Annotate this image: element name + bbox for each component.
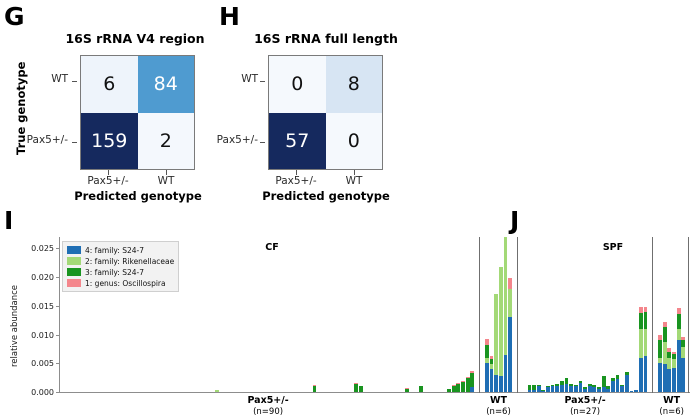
chart-legend: 4: family: S24-72: family: Rikenellaceae… bbox=[62, 241, 179, 292]
chart-x-axis-line bbox=[59, 392, 690, 393]
panel-h-ytick-mark-0 bbox=[260, 81, 265, 82]
bar-segment-taxon4 bbox=[555, 386, 559, 392]
panel-h-xtick-0: Pax5+/- bbox=[266, 175, 326, 187]
bar-i-Pax5-84[interactable] bbox=[452, 385, 456, 392]
panel-g-cell-pax5-pax5[interactable]: 159 bbox=[81, 113, 138, 170]
bar-segment-taxon2 bbox=[677, 329, 681, 340]
legend-item-taxon4: 4: family: S24-7 bbox=[67, 245, 174, 255]
legend-item-taxon2: 2: family: Rikenellaceae bbox=[67, 256, 174, 266]
bar-segment-taxon4 bbox=[574, 386, 578, 392]
bar-segment-taxon4 bbox=[663, 364, 667, 392]
bar-segment-taxon4 bbox=[611, 381, 615, 392]
panel-h-cell-pax5-pax5[interactable]: 57 bbox=[269, 113, 326, 170]
group-separator-3 bbox=[652, 237, 653, 393]
panel-g-xtick-1: WT bbox=[141, 175, 191, 187]
bar-segment-taxon2 bbox=[672, 359, 676, 368]
bar-segment-taxon4 bbox=[490, 369, 494, 392]
bar-segment-taxon4 bbox=[504, 355, 508, 392]
panel-g-ytick-1: Pax5+/- bbox=[12, 134, 68, 146]
bar-j-Pax5-3[interactable] bbox=[537, 385, 541, 392]
legend-swatch-taxon4 bbox=[67, 246, 81, 254]
bar-segment-taxon4 bbox=[560, 385, 564, 392]
bar-segment-taxon4 bbox=[620, 386, 624, 392]
bar-segment-taxon4 bbox=[541, 391, 545, 392]
y-tick-label-3: 0.015 bbox=[20, 302, 54, 311]
bar-j-Pax5-16[interactable] bbox=[597, 387, 601, 392]
bar-j-Pax5-11[interactable] bbox=[574, 385, 578, 392]
bar-j-WT-3[interactable] bbox=[672, 352, 676, 392]
panel-g-matrix: 6 84 159 2 bbox=[80, 55, 195, 170]
bar-segment-taxon4 bbox=[644, 356, 648, 392]
group-label-i-WT: WT bbox=[454, 395, 544, 406]
bar-segment-taxon4 bbox=[606, 389, 610, 392]
bar-segment-taxon3 bbox=[470, 373, 474, 388]
panel-g-xlabel: Predicted genotype bbox=[73, 189, 203, 203]
panel-g-xtick-0: Pax5+/- bbox=[78, 175, 138, 187]
bar-i-WT-0[interactable] bbox=[485, 339, 489, 392]
bar-j-WT-2[interactable] bbox=[667, 348, 671, 392]
bar-j-Pax5-22[interactable] bbox=[625, 372, 629, 392]
y-tick-label-4: 0.020 bbox=[20, 273, 54, 282]
bar-segment-taxon3 bbox=[313, 386, 317, 392]
bar-i-Pax5-74[interactable] bbox=[405, 388, 409, 392]
bar-j-Pax5-13[interactable] bbox=[583, 387, 587, 392]
bar-j-Pax5-1[interactable] bbox=[528, 385, 532, 392]
group-label-j-WT: WT bbox=[627, 395, 694, 406]
bar-i-Pax5-83[interactable] bbox=[447, 389, 451, 392]
bar-segment-taxon4 bbox=[499, 376, 503, 392]
bar-i-WT-3[interactable] bbox=[499, 267, 503, 392]
bar-i-Pax5-64[interactable] bbox=[359, 386, 363, 392]
abundance-chart: relative abundance 0.0000.0050.0100.0150… bbox=[0, 215, 694, 413]
panel-g-cell-wt-pax5[interactable]: 6 bbox=[81, 56, 138, 113]
bar-segment-taxon4 bbox=[677, 340, 681, 392]
bar-segment-taxon4 bbox=[537, 386, 541, 392]
bar-segment-taxon4 bbox=[532, 390, 536, 392]
bar-j-Pax5-6[interactable] bbox=[551, 385, 555, 392]
bar-segment-taxon3 bbox=[644, 312, 648, 329]
bar-j-Pax5-23[interactable] bbox=[630, 391, 634, 392]
bar-i-WT-1[interactable] bbox=[490, 356, 494, 392]
legend-swatch-taxon1 bbox=[67, 279, 81, 287]
group-separator-end bbox=[688, 237, 689, 393]
bar-j-Pax5-9[interactable] bbox=[565, 378, 569, 392]
bar-j-Pax5-7[interactable] bbox=[555, 384, 559, 392]
group-separator-1 bbox=[479, 237, 480, 393]
panel-h-cell-wt-pax5[interactable]: 0 bbox=[269, 56, 326, 113]
chart-y-axis-label: relative abundance bbox=[10, 285, 20, 367]
bar-segment-taxon4 bbox=[546, 387, 550, 392]
bar-j-Pax5-21[interactable] bbox=[620, 385, 624, 392]
bar-segment-taxon4 bbox=[583, 389, 587, 392]
bar-segment-taxon4 bbox=[588, 386, 592, 392]
bar-j-Pax5-26[interactable] bbox=[644, 307, 648, 392]
bar-segment-taxon4 bbox=[485, 363, 489, 392]
group-count-j-WT: (n=6) bbox=[627, 407, 694, 417]
bar-i-Pax5-87[interactable] bbox=[466, 377, 470, 392]
y-tick-label-2: 0.010 bbox=[20, 331, 54, 340]
panel-letter-g: G bbox=[4, 4, 25, 29]
panel-header-j: SPF bbox=[583, 242, 643, 253]
bar-segment-taxon4 bbox=[667, 369, 671, 392]
bar-segment-taxon4 bbox=[592, 387, 596, 392]
bar-segment-taxon4 bbox=[597, 389, 601, 392]
bar-segment-taxon4 bbox=[508, 317, 512, 392]
bar-segment-taxon4 bbox=[528, 390, 532, 392]
bar-j-Pax5-20[interactable] bbox=[616, 375, 620, 392]
bar-segment-taxon3 bbox=[485, 345, 489, 358]
bar-segment-taxon2 bbox=[499, 267, 503, 376]
bar-segment-taxon3 bbox=[677, 314, 681, 329]
panel-h-cell-wt-wt[interactable]: 8 bbox=[326, 56, 383, 113]
legend-item-taxon1: 1: genus: Oscillospira bbox=[67, 278, 174, 288]
panel-g-cell-wt-wt[interactable]: 84 bbox=[138, 56, 195, 113]
panel-h-ytick-0: WT bbox=[212, 73, 258, 85]
bar-segment-taxon1 bbox=[508, 278, 512, 288]
y-tick-label-0: 0.000 bbox=[20, 388, 54, 397]
panel-g-ytick-0: WT bbox=[22, 73, 68, 85]
bar-segment-taxon3 bbox=[681, 340, 685, 347]
legend-label-taxon2: 2: family: Rikenellaceae bbox=[85, 257, 174, 266]
y-tick-label-1: 0.005 bbox=[20, 359, 54, 368]
legend-swatch-taxon2 bbox=[67, 257, 81, 265]
bar-segment-taxon3 bbox=[456, 384, 460, 392]
bar-j-Pax5-5[interactable] bbox=[546, 386, 550, 392]
group-label-j-Pax5: Pax5+/- bbox=[540, 395, 630, 406]
bar-j-Pax5-4[interactable] bbox=[541, 390, 545, 392]
bar-j-Pax5-10[interactable] bbox=[569, 384, 573, 392]
bar-segment-taxon3 bbox=[359, 386, 363, 392]
bar-segment-taxon3 bbox=[447, 389, 451, 392]
bar-j-Pax5-25[interactable] bbox=[639, 307, 643, 392]
bar-segment-taxon4 bbox=[625, 375, 629, 392]
bar-segment-taxon4 bbox=[681, 358, 685, 392]
bar-segment-taxon3 bbox=[452, 386, 456, 392]
group-count-i-WT: (n=6) bbox=[454, 407, 544, 417]
bar-segment-taxon3 bbox=[602, 376, 606, 387]
bar-segment-taxon2 bbox=[663, 342, 667, 365]
group-label-i-Pax5: Pax5+/- bbox=[223, 395, 313, 406]
bar-i-Pax5-86[interactable] bbox=[461, 381, 465, 392]
bar-segment-taxon2 bbox=[215, 390, 219, 392]
bar-segment-taxon4 bbox=[602, 387, 606, 392]
panel-letter-h: H bbox=[219, 4, 240, 29]
bar-j-WT-5[interactable] bbox=[681, 337, 685, 392]
bar-i-Pax5-77[interactable] bbox=[419, 386, 423, 392]
bar-segment-taxon2 bbox=[508, 289, 512, 318]
panel-g-ytick-mark-1 bbox=[72, 142, 77, 143]
panel-h-cell-pax5-wt[interactable]: 0 bbox=[326, 113, 383, 170]
bar-segment-taxon4 bbox=[551, 386, 555, 392]
bar-j-WT-0[interactable] bbox=[658, 335, 662, 392]
group-count-i-Pax5: (n=90) bbox=[223, 407, 313, 417]
bar-j-WT-4[interactable] bbox=[677, 308, 681, 392]
bar-j-Pax5-2[interactable] bbox=[532, 385, 536, 392]
bar-segment-taxon3 bbox=[419, 386, 423, 392]
bar-i-Pax5-88[interactable] bbox=[470, 371, 474, 392]
bar-i-Pax5-85[interactable] bbox=[456, 383, 460, 392]
panel-h-title: 16S rRNA full length bbox=[240, 31, 412, 46]
bar-segment-taxon2 bbox=[504, 237, 508, 355]
bar-j-Pax5-19[interactable] bbox=[611, 378, 615, 392]
bar-segment-taxon2 bbox=[639, 329, 643, 358]
bar-segment-taxon2 bbox=[667, 358, 671, 369]
bar-segment-taxon4 bbox=[569, 386, 573, 392]
panel-h-ytick-mark-1 bbox=[260, 142, 265, 143]
bar-segment-taxon4 bbox=[494, 375, 498, 392]
bar-i-WT-5[interactable] bbox=[508, 278, 512, 392]
panel-header-i: CF bbox=[242, 242, 302, 253]
bar-j-Pax5-14[interactable] bbox=[588, 384, 592, 392]
bar-segment-taxon4 bbox=[658, 363, 662, 392]
panel-g-cell-pax5-wt[interactable]: 2 bbox=[138, 113, 195, 170]
legend-label-taxon1: 1: genus: Oscillospira bbox=[85, 279, 166, 288]
panel-g-title: 16S rRNA V4 region bbox=[50, 31, 220, 46]
panel-h-xlabel: Predicted genotype bbox=[261, 189, 391, 203]
bar-i-WT-2[interactable] bbox=[494, 294, 498, 392]
bar-segment-taxon2 bbox=[494, 294, 498, 374]
bar-j-Pax5-17[interactable] bbox=[602, 376, 606, 392]
bar-segment-taxon3 bbox=[663, 327, 667, 342]
bar-segment-taxon4 bbox=[634, 390, 638, 392]
bar-j-Pax5-8[interactable] bbox=[560, 381, 564, 392]
bar-segment-taxon3 bbox=[466, 378, 470, 392]
panel-g-ytick-mark-0 bbox=[72, 81, 77, 82]
bar-segment-taxon3 bbox=[639, 313, 643, 329]
bar-j-Pax5-24[interactable] bbox=[634, 390, 638, 392]
bar-segment-taxon2 bbox=[644, 329, 648, 357]
bar-segment-taxon4 bbox=[630, 391, 634, 392]
bar-j-Pax5-12[interactable] bbox=[579, 381, 583, 392]
bar-segment-taxon4 bbox=[565, 384, 569, 392]
legend-swatch-taxon3 bbox=[67, 268, 81, 276]
bar-segment-taxon4 bbox=[470, 387, 474, 392]
bar-i-WT-4[interactable] bbox=[504, 237, 508, 392]
panel-h-xtick-1: WT bbox=[329, 175, 379, 187]
bar-segment-taxon4 bbox=[579, 383, 583, 392]
bar-segment-taxon3 bbox=[405, 389, 409, 392]
bar-i-Pax5-63[interactable] bbox=[354, 383, 358, 392]
bar-segment-taxon2 bbox=[681, 347, 685, 357]
bar-segment-taxon4 bbox=[616, 379, 620, 392]
bar-i-Pax5-54[interactable] bbox=[313, 385, 317, 392]
bar-segment-taxon3 bbox=[461, 382, 465, 392]
legend-label-taxon3: 3: family: S24-7 bbox=[85, 268, 144, 277]
group-separator-2 bbox=[517, 237, 518, 393]
bar-segment-taxon4 bbox=[639, 358, 643, 392]
bar-j-WT-1[interactable] bbox=[663, 322, 667, 392]
bar-j-Pax5-18[interactable] bbox=[606, 386, 610, 392]
bar-j-Pax5-15[interactable] bbox=[592, 385, 596, 392]
legend-item-taxon3: 3: family: S24-7 bbox=[67, 267, 174, 277]
panel-h-matrix: 0 8 57 0 bbox=[268, 55, 383, 170]
legend-label-taxon4: 4: family: S24-7 bbox=[85, 246, 144, 255]
y-tick-label-5: 0.025 bbox=[20, 244, 54, 253]
group-count-j-Pax5: (n=27) bbox=[540, 407, 630, 417]
panel-h-ytick-1: Pax5+/- bbox=[202, 134, 258, 146]
bar-segment-taxon3 bbox=[354, 384, 358, 392]
bar-segment-taxon4 bbox=[672, 368, 676, 392]
bar-segment-taxon3 bbox=[658, 340, 662, 357]
bar-i-Pax5-33[interactable] bbox=[215, 390, 219, 392]
